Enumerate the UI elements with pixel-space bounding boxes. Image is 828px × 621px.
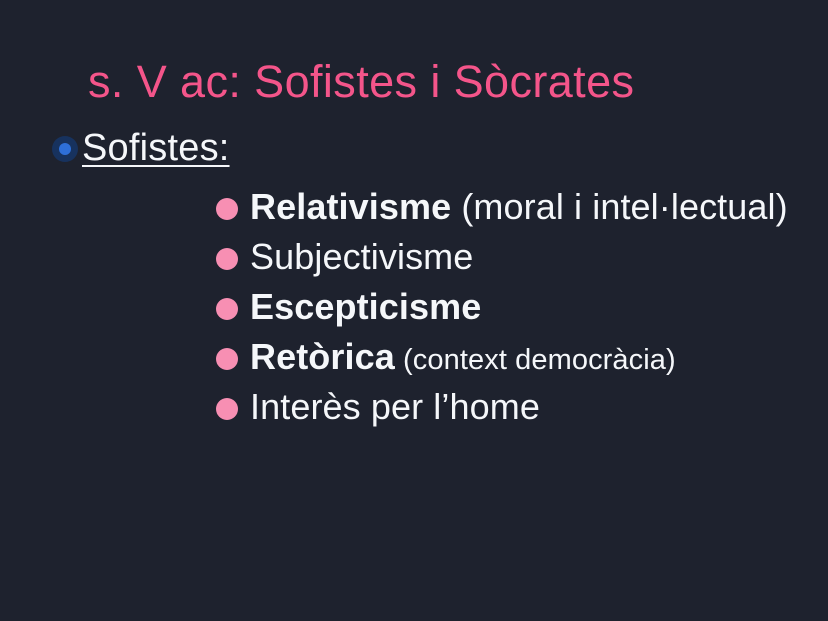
level2-bullet-list: Relativisme (moral i intel·lectual)Subje…: [216, 183, 816, 432]
filled-circle-icon: [216, 348, 238, 370]
presentation-slide: s. V ac: Sofistes i Sòcrates Sofistes: R…: [0, 0, 828, 621]
level2-bullet-item: Escepticisme: [216, 283, 816, 331]
radio-target-inner-icon: [59, 143, 71, 155]
level2-bullet-term: Subjectivisme: [250, 236, 473, 277]
level2-bullet-term: Interès per l’home: [250, 386, 540, 427]
level2-bullet-item: Relativisme (moral i intel·lectual): [216, 183, 816, 231]
level1-bullet-row: Sofistes:: [52, 128, 230, 170]
level2-bullet-item: Interès per l’home: [216, 383, 816, 431]
level2-bullet-term: Relativisme: [250, 186, 451, 227]
slide-title: s. V ac: Sofistes i Sòcrates: [88, 58, 788, 105]
filled-circle-icon: [216, 198, 238, 220]
level1-bullet-label: Sofistes:: [82, 128, 230, 170]
filled-circle-icon: [216, 398, 238, 420]
level2-bullet-item: Subjectivisme: [216, 233, 816, 281]
filled-circle-icon: [216, 298, 238, 320]
level2-bullet-note: (moral i intel·lectual): [451, 186, 788, 227]
radio-target-icon: [52, 136, 78, 162]
level2-bullet-term: Escepticisme: [250, 286, 481, 327]
level2-bullet-term: Retòrica: [250, 336, 395, 377]
level2-bullet-note: (context democràcia): [395, 344, 676, 376]
filled-circle-icon: [216, 248, 238, 270]
level2-bullet-item: Retòrica (context democràcia): [216, 333, 816, 381]
